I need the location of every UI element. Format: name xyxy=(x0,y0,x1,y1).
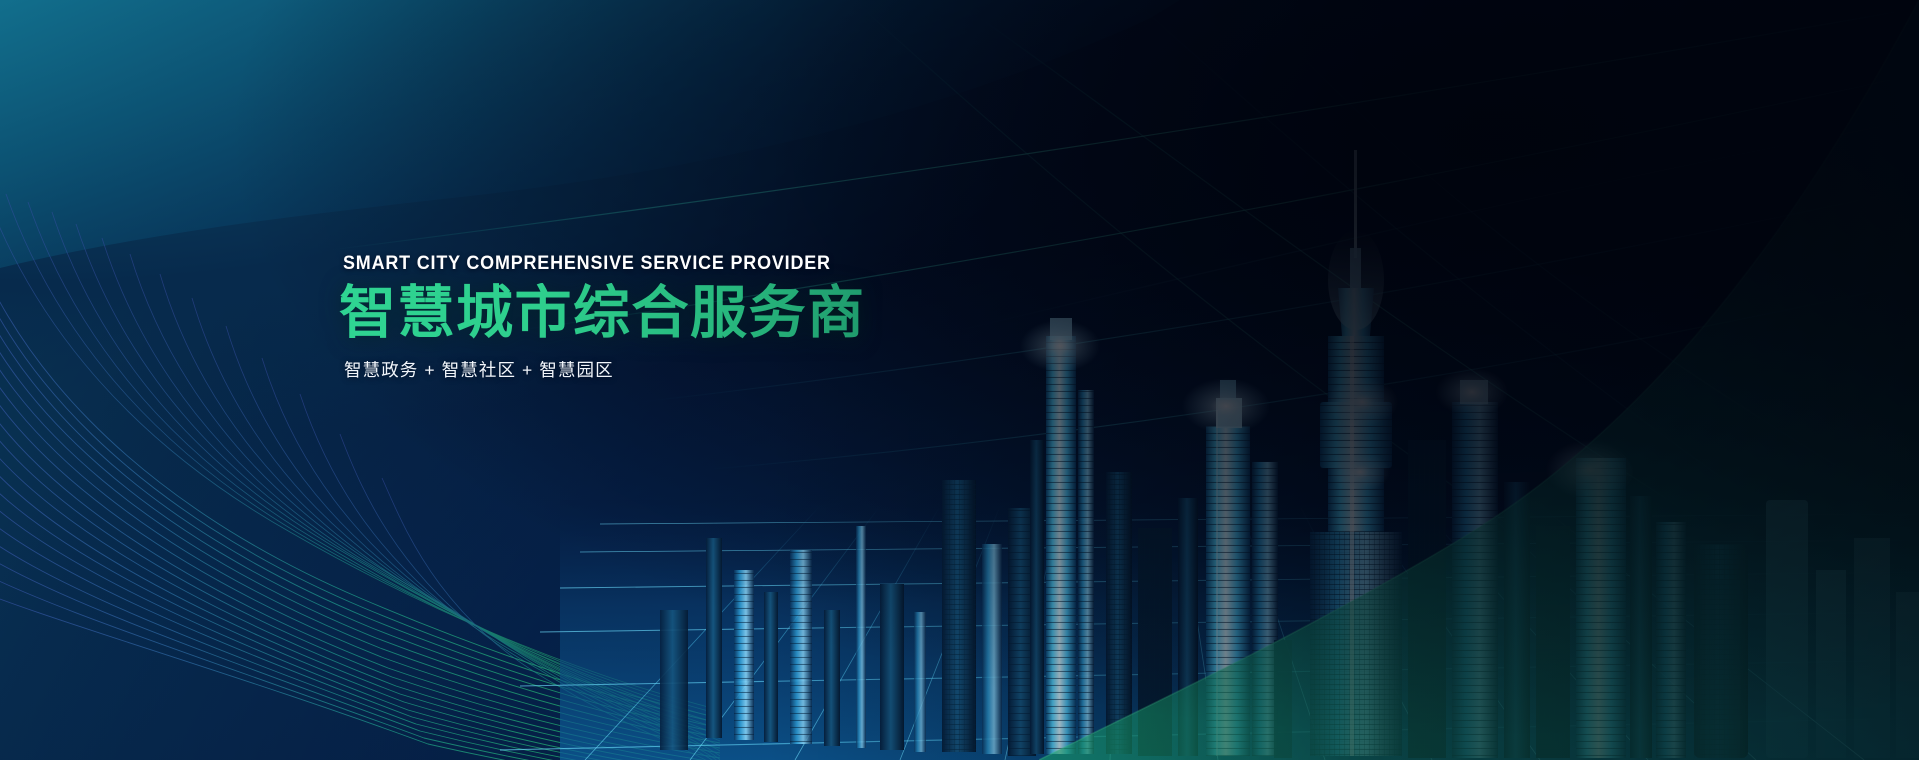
banner-subtitle: 智慧政务 + 智慧社区 + 智慧园区 xyxy=(344,357,1103,382)
hero-copy: SMART CITY COMPREHENSIVE SERVICE PROVIDE… xyxy=(343,252,1103,382)
hero-banner: SMART CITY COMPREHENSIVE SERVICE PROVIDE… xyxy=(0,0,1919,760)
banner-headline: 智慧城市综合服务商 xyxy=(339,283,1103,345)
banner-eyebrow: SMART CITY COMPREHENSIVE SERVICE PROVIDE… xyxy=(343,252,1042,275)
